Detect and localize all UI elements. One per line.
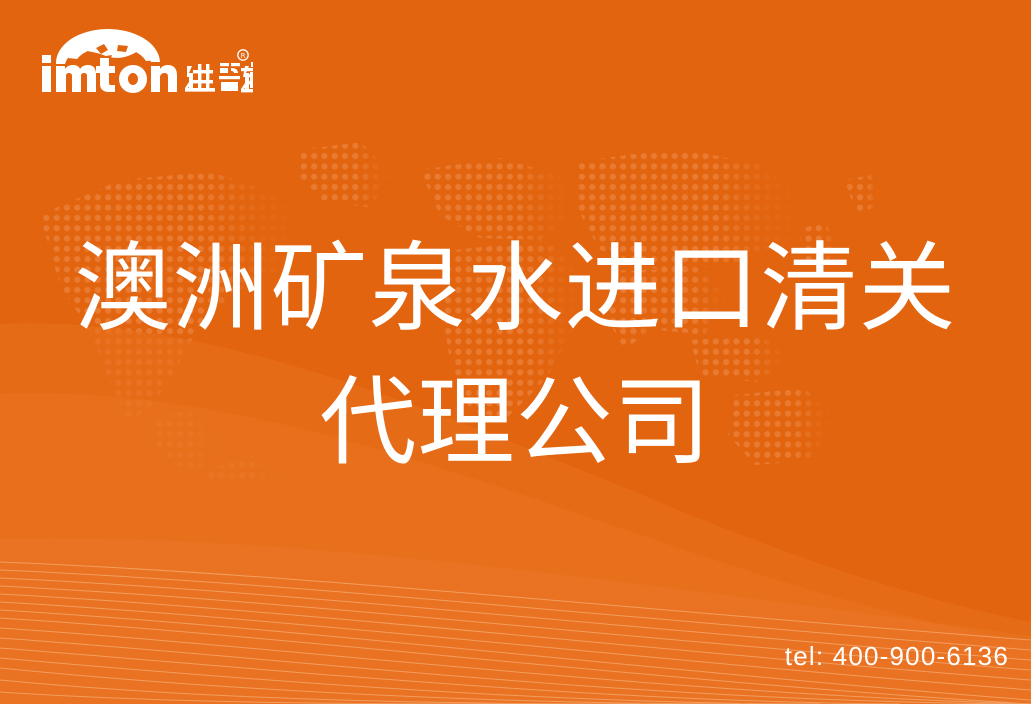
svg-text:R: R (241, 52, 246, 60)
promo-banner: R 澳洲矿泉水进口清关 代理公司 tel: 400-900-6136 (0, 0, 1031, 704)
page-title-line-2: 代理公司 (0, 356, 1031, 490)
contact-phone[interactable]: tel: 400-900-6136 (785, 641, 1009, 672)
logo-chinese-name (185, 62, 253, 92)
page-title-line-1: 澳洲矿泉水进口清关 (0, 222, 1031, 356)
page-title: 澳洲矿泉水进口清关 代理公司 (0, 222, 1031, 490)
registered-trademark-icon: R (238, 50, 248, 60)
hairline-stripes (0, 544, 1031, 704)
brand-logo[interactable]: R (38, 28, 253, 110)
